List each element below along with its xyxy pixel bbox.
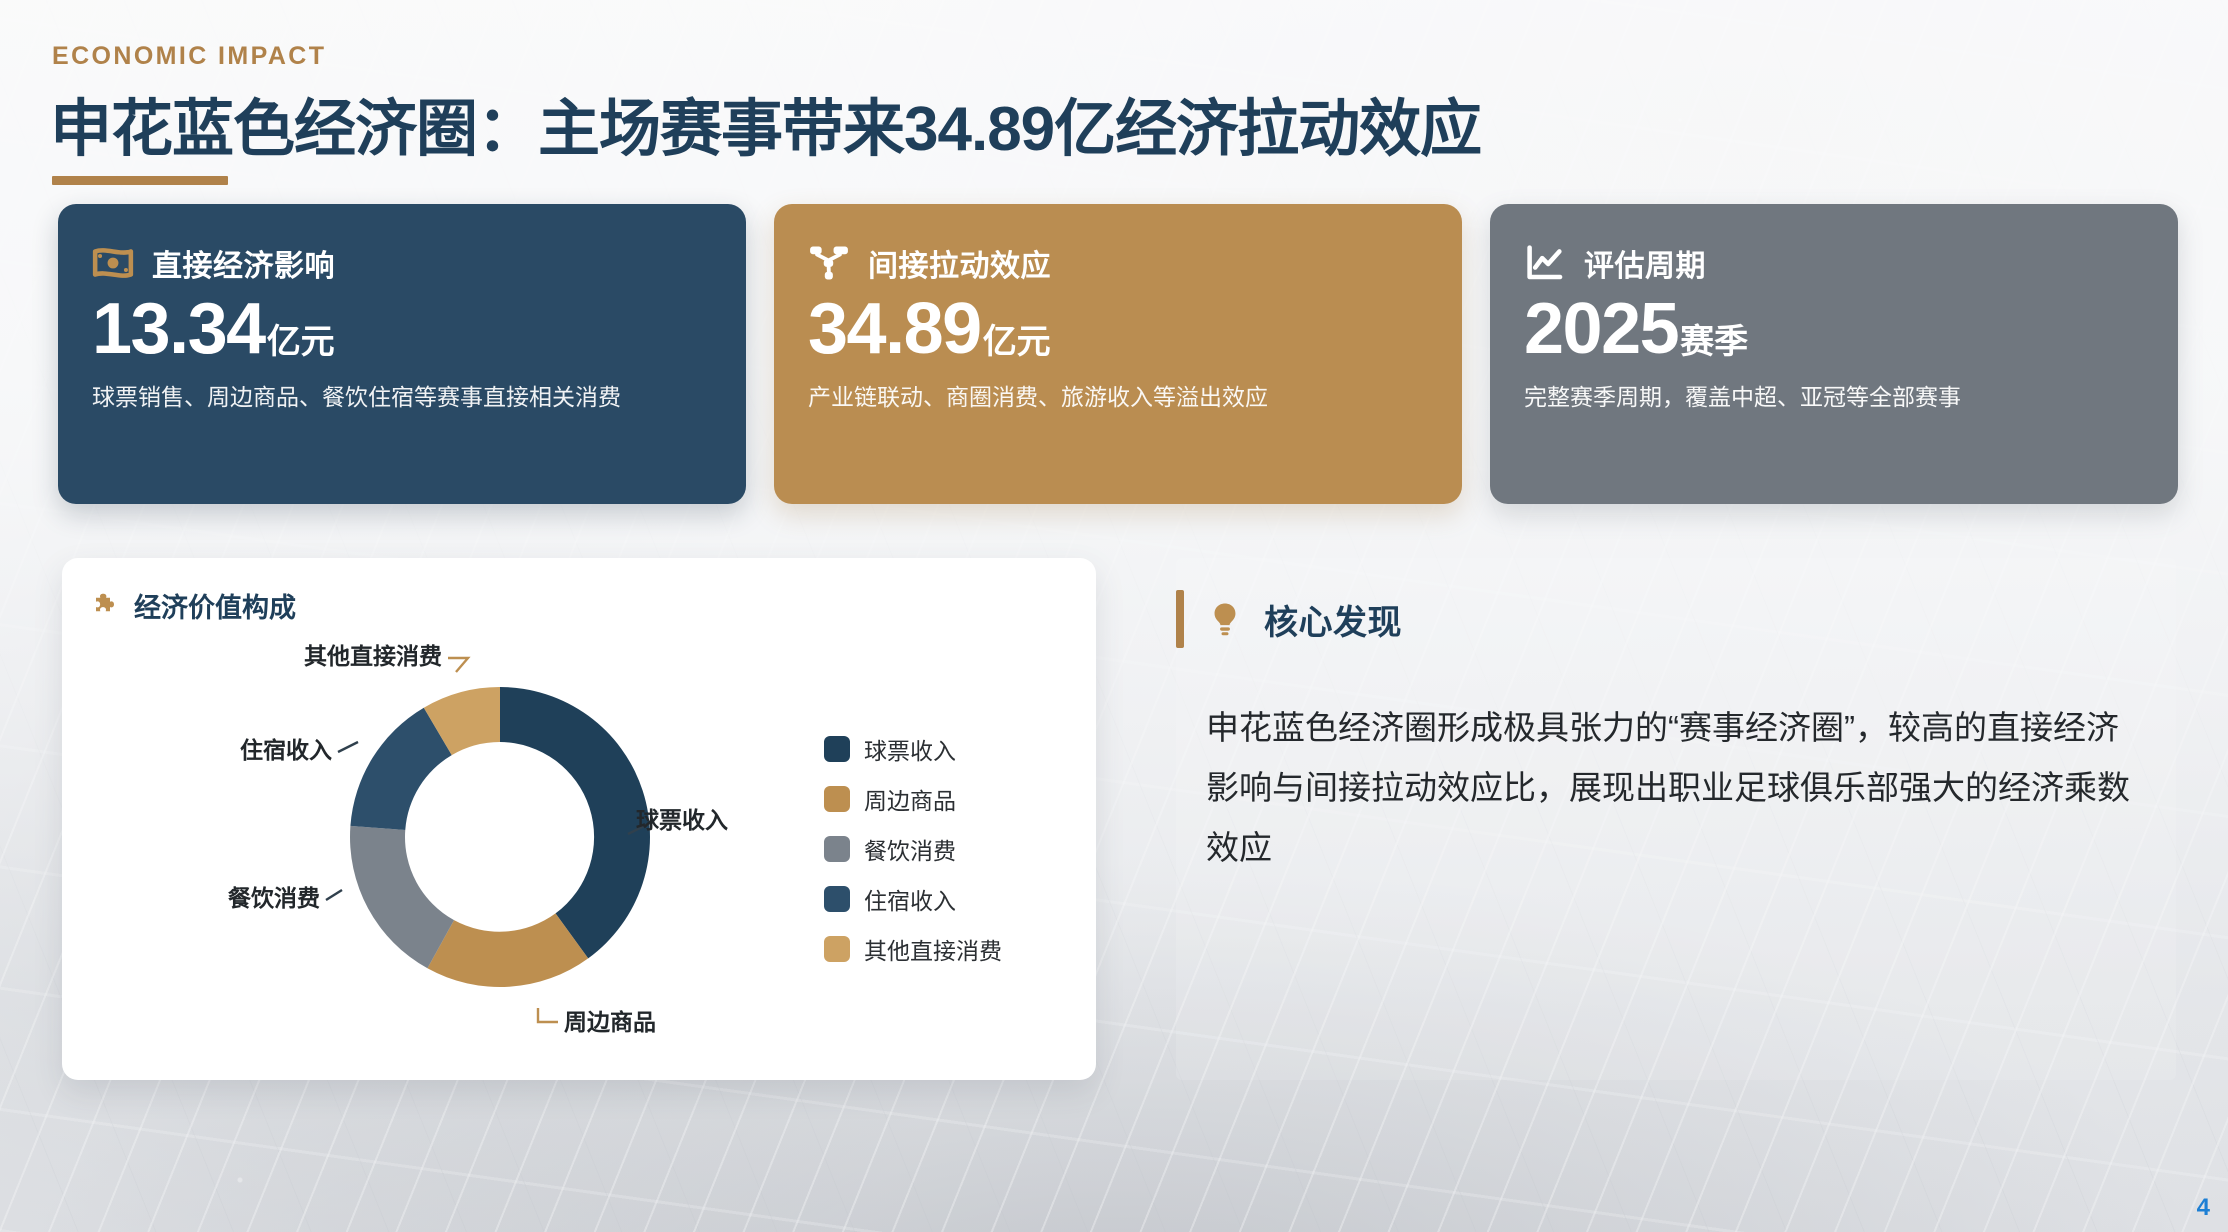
kpi-value-number: 34.89 [808, 292, 981, 367]
kpi-description: 完整赛季周期，覆盖中超、亚冠等全部赛事 [1524, 381, 2119, 414]
eyebrow-label: ECONOMIC IMPACT [52, 42, 326, 71]
kpi-value: 2025 赛季 [1524, 292, 2144, 367]
kpi-header: 间接拉动效应 [808, 240, 1428, 286]
kpi-header: 直接经济影响 [92, 240, 712, 286]
legend-swatch [824, 786, 850, 812]
callout-line-accommodation [338, 742, 358, 752]
callout-line-merchandise [538, 1008, 558, 1022]
callout-line-dining [326, 890, 342, 900]
legend-label: 周边商品 [864, 782, 956, 816]
kpi-card-evaluation-period[interactable]: 评估周期 2025 赛季 完整赛季周期，覆盖中超、亚冠等全部赛事 [1490, 204, 2178, 504]
callout-label-accommodation: 住宿收入 [240, 737, 332, 763]
kpi-value-unit: 亿元 [983, 325, 1051, 360]
callout-label-merchandise: 周边商品 [564, 1009, 656, 1035]
title-underline-rule [52, 176, 228, 185]
slide: ECONOMIC IMPACT 申花蓝色经济圈：主场赛事带来34.89亿经济拉动… [0, 0, 2228, 1232]
chart-legend: 球票收入 周边商品 餐饮消费 住宿收入 其他直接消费 [824, 732, 1002, 966]
legend-swatch [824, 836, 850, 862]
key-findings-title: 核心发现 [1264, 595, 1402, 644]
callout-label-dining: 餐饮消费 [228, 885, 320, 911]
chart-title: 经济价值构成 [134, 586, 296, 625]
kpi-value-unit: 赛季 [1680, 325, 1748, 360]
legend-swatch [824, 886, 850, 912]
kpi-card-row: 直接经济影响 13.34 亿元 球票销售、周边商品、餐饮住宿等赛事直接相关消费 … [58, 204, 2178, 504]
legend-item[interactable]: 住宿收入 [824, 882, 1002, 916]
banknote-icon [92, 242, 134, 284]
legend-item[interactable]: 餐饮消费 [824, 832, 1002, 866]
kpi-value-unit: 亿元 [267, 325, 335, 360]
chart-body: 球票收入 周边商品 餐饮消费 住宿收入 其他直接消费 球票收入 周边商品 餐饮消… [62, 628, 1096, 1078]
chart-title-row: 经济价值构成 [92, 586, 1066, 625]
kpi-description: 球票销售、周边商品、餐饮住宿等赛事直接相关消费 [92, 381, 687, 414]
line-chart-icon [1524, 242, 1566, 284]
lightbulb-icon [1206, 600, 1244, 638]
kpi-label: 间接拉动效应 [868, 241, 1051, 285]
legend-label: 住宿收入 [864, 882, 956, 916]
callout-label-ticket: 球票收入 [636, 807, 728, 833]
key-findings-body: 申花蓝色经济圈形成极具张力的“赛事经济圈”，较高的直接经济影响与间接拉动效应比，… [1176, 698, 2140, 878]
key-findings-panel: 核心发现 申花蓝色经济圈形成极具张力的“赛事经济圈”，较高的直接经济影响与间接拉… [1176, 558, 2176, 1080]
donut-slice-dining[interactable] [350, 826, 454, 968]
legend-label: 球票收入 [864, 732, 956, 766]
callout-line-other [448, 658, 468, 672]
donut-chart[interactable]: 球票收入 周边商品 餐饮消费 住宿收入 其他直接消费 [180, 622, 820, 1072]
legend-item[interactable]: 其他直接消费 [824, 932, 1002, 966]
accent-bar [1176, 590, 1184, 648]
legend-label: 餐饮消费 [864, 832, 956, 866]
key-findings-header: 核心发现 [1176, 586, 2140, 652]
kpi-description: 产业链联动、商圈消费、旅游收入等溢出效应 [808, 381, 1403, 414]
economic-value-chart-panel: 经济价值构成 [62, 558, 1096, 1080]
page-number: 4 [2197, 1194, 2210, 1222]
page-title: 申花蓝色经济圈：主场赛事带来34.89亿经济拉动效应 [50, 78, 1481, 168]
donut-slice-ticket-revenue[interactable] [500, 687, 650, 958]
kpi-card-indirect-impact[interactable]: 间接拉动效应 34.89 亿元 产业链联动、商圈消费、旅游收入等溢出效应 [774, 204, 1462, 504]
kpi-value-number: 13.34 [92, 292, 265, 367]
legend-swatch [824, 936, 850, 962]
kpi-value-number: 2025 [1524, 292, 1678, 367]
network-share-icon [808, 242, 850, 284]
kpi-value: 13.34 亿元 [92, 292, 712, 367]
kpi-header: 评估周期 [1524, 240, 2144, 286]
kpi-card-direct-impact[interactable]: 直接经济影响 13.34 亿元 球票销售、周边商品、餐饮住宿等赛事直接相关消费 [58, 204, 746, 504]
kpi-label: 直接经济影响 [152, 241, 335, 285]
kpi-value: 34.89 亿元 [808, 292, 1428, 367]
legend-swatch [824, 736, 850, 762]
callout-label-other: 其他直接消费 [304, 643, 442, 669]
legend-item[interactable]: 周边商品 [824, 782, 1002, 816]
legend-label: 其他直接消费 [864, 932, 1002, 966]
puzzle-icon [92, 591, 122, 621]
kpi-label: 评估周期 [1584, 241, 1706, 285]
legend-item[interactable]: 球票收入 [824, 732, 1002, 766]
